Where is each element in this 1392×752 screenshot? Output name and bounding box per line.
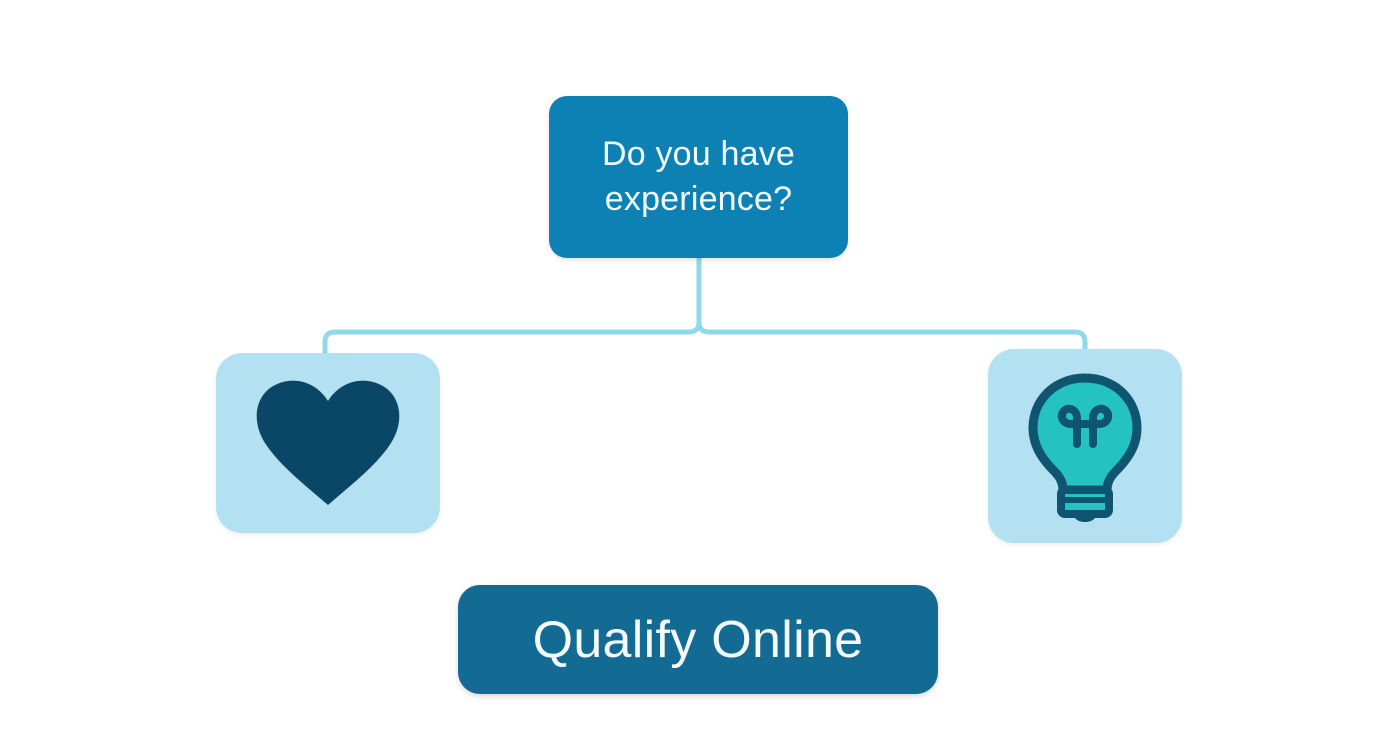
lightbulb-icon	[1019, 370, 1151, 522]
connector-right	[699, 258, 1085, 351]
connector-left	[325, 258, 699, 355]
option-card-heart[interactable]	[216, 353, 440, 533]
heart-icon	[253, 377, 403, 509]
diagram-canvas: Do you have experience? Qualify Online	[0, 0, 1392, 752]
decision-node-label: Do you have experience?	[571, 132, 826, 222]
decision-node[interactable]: Do you have experience?	[549, 96, 848, 258]
qualify-online-button[interactable]: Qualify Online	[458, 585, 938, 694]
option-card-lightbulb[interactable]	[988, 349, 1182, 543]
